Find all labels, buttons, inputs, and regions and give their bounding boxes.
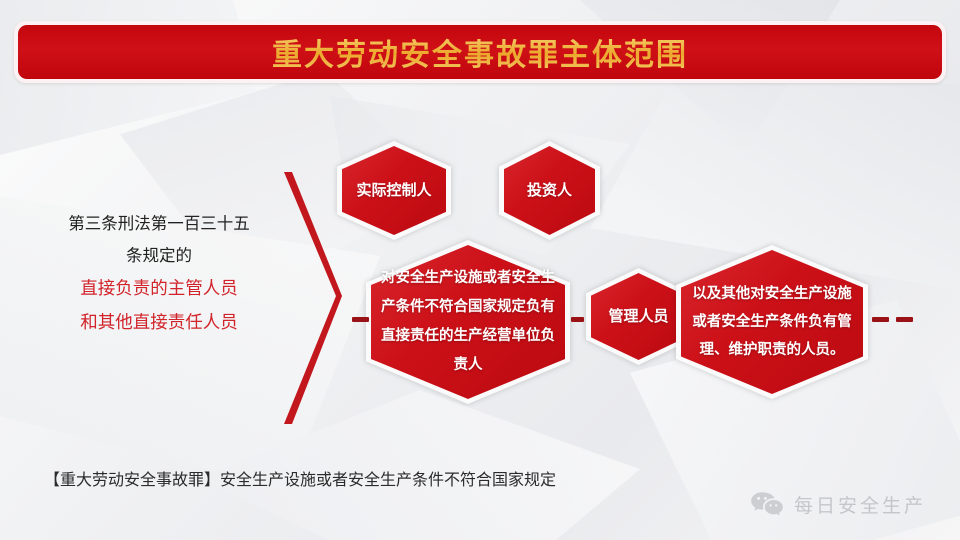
slide-canvas: 重大劳动安全事故罪主体范围 第三条刑法第一百三十五 条规定的 直接负责的主管人员…	[0, 0, 960, 540]
hex-label: 投资人	[515, 177, 584, 205]
connector-dash	[571, 317, 584, 322]
title-banner-fill: 重大劳动安全事故罪主体范围	[18, 25, 942, 79]
left-line-3: 直接负责的主管人员	[34, 272, 284, 306]
hex-node-other-duty-staff[interactable]: 以及其他对安全生产设施或者安全生产条件负有管理、维护职责的人员。	[676, 245, 868, 399]
wechat-icon	[750, 490, 784, 518]
hex-label: 以及其他对安全生产设施或者安全生产条件负有管理、维护职责的人员。	[676, 280, 868, 365]
watermark: 每日安全生产	[750, 490, 926, 518]
left-line-4: 和其他直接责任人员	[34, 306, 284, 340]
hex-label: 管理人员	[596, 303, 680, 331]
connector-dash	[896, 317, 913, 322]
hex-node-actual-controller[interactable]: 实际控制人	[337, 141, 451, 240]
hex-label: 实际控制人	[344, 177, 443, 205]
hex-node-responsible-person[interactable]: 对安全生产设施或者安全生产条件不符合国家规定负有直接责任的生产经营单位负责人	[366, 240, 570, 404]
page-title: 重大劳动安全事故罪主体范围	[272, 30, 688, 74]
title-banner: 重大劳动安全事故罪主体范围	[14, 21, 946, 83]
left-line-2: 条规定的	[34, 240, 284, 272]
connector-dash	[352, 317, 369, 322]
hex-label: 对安全生产设施或者安全生产条件不符合国家规定负有直接责任的生产经营单位负责人	[366, 264, 570, 380]
chevron-right-arrow	[272, 168, 342, 428]
background-facet	[200, 390, 640, 540]
hex-node-investor[interactable]: 投资人	[499, 141, 600, 240]
left-description-block: 第三条刑法第一百三十五 条规定的 直接负责的主管人员 和其他直接责任人员	[34, 208, 284, 341]
watermark-text: 每日安全生产	[794, 491, 926, 518]
left-line-1: 第三条刑法第一百三十五	[34, 208, 284, 240]
footer-caption: 【重大劳动安全事故罪】安全生产设施或者安全生产条件不符合国家规定	[44, 466, 556, 490]
connector-dash	[872, 317, 889, 322]
